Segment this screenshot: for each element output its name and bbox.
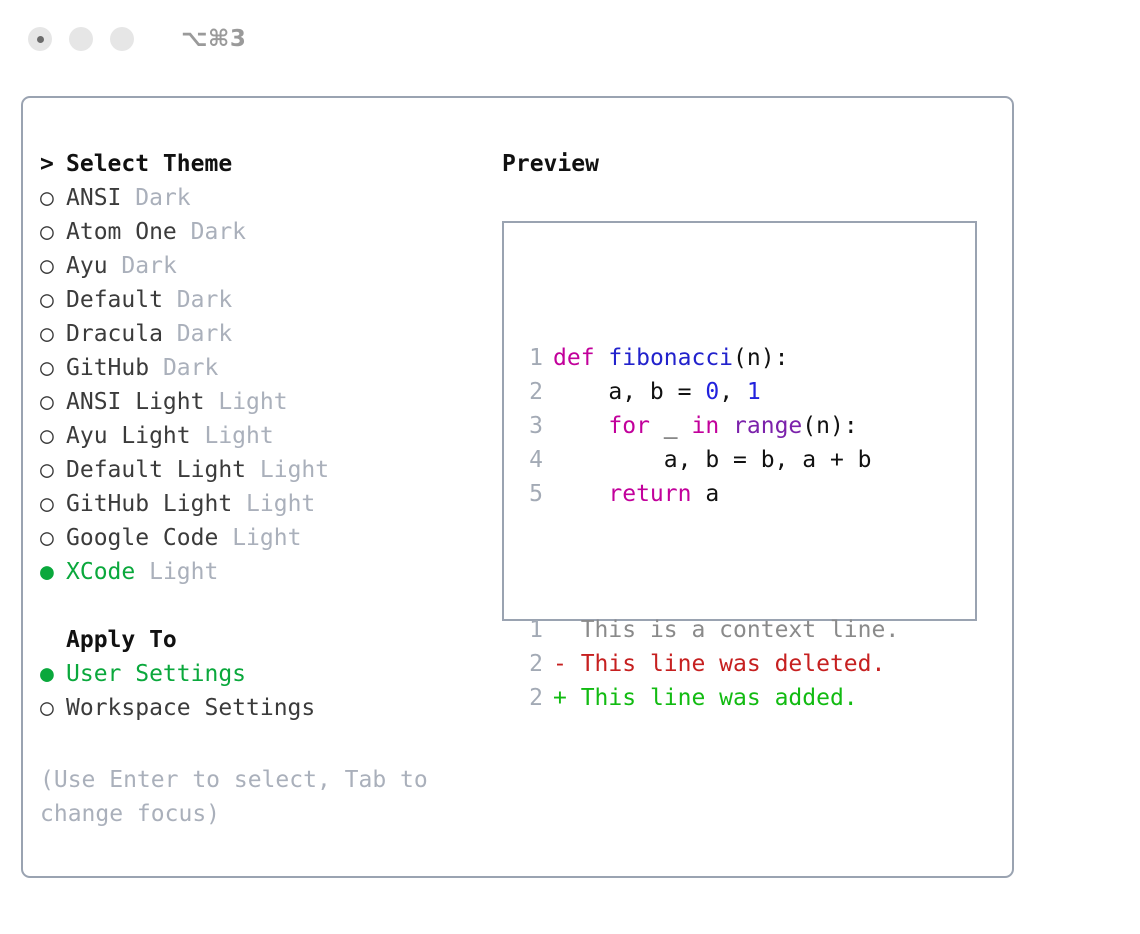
theme-name: Ayu Light — [66, 419, 191, 453]
minimize-button[interactable] — [69, 27, 93, 51]
theme-gap — [191, 419, 205, 453]
code-token-kw: in — [691, 413, 719, 439]
app-window: ⌥⌘3 > Select Theme ○ANSI Dark○Atom One D… — [0, 0, 1140, 934]
theme-option-ansi-light[interactable]: ○ANSI Light Light — [40, 385, 500, 419]
theme-option-default-light[interactable]: ○Default Light Light — [40, 453, 500, 487]
diff-line-del: 2- This line was deleted. — [521, 647, 899, 681]
apply-to-marker-spacer — [40, 623, 66, 657]
close-button-dot — [37, 36, 44, 43]
radio-unselected-icon: ○ — [40, 385, 66, 419]
theme-gap — [163, 283, 177, 317]
diff-text: This line was added. — [581, 685, 858, 711]
radio-unselected-icon: ○ — [40, 181, 66, 215]
prompt-caret-icon: > — [40, 147, 66, 181]
diff-sign: - — [553, 651, 581, 677]
radio-selected-icon: ● — [40, 657, 66, 691]
theme-kind-badge: Dark — [135, 181, 190, 215]
code-token-txt — [553, 481, 608, 507]
code-token-txt: (n): — [802, 413, 857, 439]
theme-gap — [177, 215, 191, 249]
code-token-txt: _ — [650, 413, 692, 439]
keyboard-hint: (Use Enter to select, Tab to change focu… — [40, 763, 460, 831]
code-token-fn: fibonacci — [608, 345, 733, 371]
code-sample: 1def fibonacci(n):2 a, b = 0, 13 for _ i… — [521, 273, 899, 783]
theme-selector-pane: > Select Theme ○ANSI Dark○Atom One Dark○… — [40, 147, 500, 725]
code-line: 4 a, b = b, a + b — [521, 443, 899, 477]
code-token-kw: def — [553, 345, 595, 371]
radio-unselected-icon: ○ — [40, 283, 66, 317]
theme-option-github[interactable]: ○GitHub Dark — [40, 351, 500, 385]
theme-kind-badge: Dark — [177, 283, 232, 317]
diff-line-add: 2+ This line was added. — [521, 681, 899, 715]
radio-unselected-icon: ○ — [40, 317, 66, 351]
theme-option-google-code[interactable]: ○Google Code Light — [40, 521, 500, 555]
theme-option-ansi[interactable]: ○ANSI Dark — [40, 181, 500, 215]
code-line: 5 return a — [521, 477, 899, 511]
diff-line-number: 1 — [521, 613, 543, 647]
theme-kind-badge: Dark — [121, 249, 176, 283]
code-token-num: 1 — [747, 379, 761, 405]
code-token-txt: a, b = b, a + b — [553, 447, 872, 473]
diff-sign — [553, 617, 581, 643]
preview-pane: Preview 1def fibonacci(n):2 a, b = 0, 13… — [502, 147, 992, 621]
theme-list: ○ANSI Dark○Atom One Dark○Ayu Dark○Defaul… — [40, 181, 500, 589]
theme-name: Google Code — [66, 521, 218, 555]
radio-unselected-icon: ○ — [40, 521, 66, 555]
preview-box: 1def fibonacci(n):2 a, b = 0, 13 for _ i… — [502, 221, 977, 621]
theme-kind-badge: Light — [260, 453, 329, 487]
diff-text: This line was deleted. — [581, 651, 886, 677]
select-theme-heading: > Select Theme — [40, 147, 500, 181]
radio-unselected-icon: ○ — [40, 487, 66, 521]
code-token-txt — [553, 413, 608, 439]
code-token-txt — [719, 413, 733, 439]
code-token-txt: (n): — [733, 345, 788, 371]
code-lines: 1def fibonacci(n):2 a, b = 0, 13 for _ i… — [521, 341, 899, 511]
theme-name: Atom One — [66, 215, 177, 249]
window-controls — [28, 27, 134, 51]
line-number: 1 — [521, 341, 543, 375]
close-button[interactable] — [28, 27, 52, 51]
theme-option-default[interactable]: ○Default Dark — [40, 283, 500, 317]
apply-to-heading: Apply To — [40, 623, 500, 657]
radio-selected-icon: ● — [40, 555, 66, 589]
theme-gap — [232, 487, 246, 521]
theme-name: Default — [66, 283, 163, 317]
diff-sign: + — [553, 685, 581, 711]
theme-gap — [204, 385, 218, 419]
apply-to-option-workspace-settings[interactable]: ○Workspace Settings — [40, 691, 500, 725]
maximize-button[interactable] — [110, 27, 134, 51]
apply-to-label: Apply To — [66, 623, 177, 657]
keyboard-hint-line-1: (Use Enter to select, Tab to — [40, 763, 460, 797]
theme-name: Default Light — [66, 453, 246, 487]
theme-kind-badge: Light — [204, 419, 273, 453]
radio-unselected-icon: ○ — [40, 419, 66, 453]
apply-to-option-user-settings[interactable]: ●User Settings — [40, 657, 500, 691]
theme-option-ayu-light[interactable]: ○Ayu Light Light — [40, 419, 500, 453]
theme-name: GitHub — [66, 351, 149, 385]
theme-kind-badge: Light — [218, 385, 287, 419]
code-token-kw: return — [608, 481, 691, 507]
diff-lines: 1 This is a context line.2- This line wa… — [521, 613, 899, 715]
diff-line-number: 2 — [521, 681, 543, 715]
apply-to-option-label: User Settings — [66, 657, 246, 691]
window-titlebar: ⌥⌘3 — [0, 0, 1140, 78]
theme-gap — [135, 555, 149, 589]
line-number: 5 — [521, 477, 543, 511]
theme-name: Dracula — [66, 317, 163, 351]
theme-kind-badge: Dark — [177, 317, 232, 351]
diff-text: This is a context line. — [581, 617, 900, 643]
theme-kind-badge: Light — [232, 521, 301, 555]
theme-gap — [218, 521, 232, 555]
line-number: 2 — [521, 375, 543, 409]
line-number: 3 — [521, 409, 543, 443]
keyboard-hint-line-2: change focus) — [40, 797, 460, 831]
diff-line-ctx: 1 This is a context line. — [521, 613, 899, 647]
code-line: 3 for _ in range(n): — [521, 409, 899, 443]
line-number: 4 — [521, 443, 543, 477]
theme-kind-badge: Dark — [191, 215, 246, 249]
diff-line-number: 2 — [521, 647, 543, 681]
theme-option-ayu[interactable]: ○Ayu Dark — [40, 249, 500, 283]
theme-name: GitHub Light — [66, 487, 232, 521]
theme-name: ANSI Light — [66, 385, 204, 419]
code-token-txt — [595, 345, 609, 371]
theme-option-atom-one[interactable]: ○Atom One Dark — [40, 215, 500, 249]
code-token-txt: a — [691, 481, 719, 507]
radio-unselected-icon: ○ — [40, 249, 66, 283]
theme-kind-badge: Light — [149, 555, 218, 589]
theme-name: ANSI — [66, 181, 121, 215]
apply-to-option-list: ●User Settings○Workspace Settings — [40, 657, 500, 725]
code-token-txt: a, b = — [553, 379, 705, 405]
theme-name: Ayu — [66, 249, 108, 283]
radio-unselected-icon: ○ — [40, 351, 66, 385]
theme-name: XCode — [66, 555, 135, 589]
keyboard-shortcut-label: ⌥⌘3 — [181, 26, 246, 52]
theme-gap — [108, 249, 122, 283]
preview-title: Preview — [502, 147, 992, 181]
code-line: 1def fibonacci(n): — [521, 341, 899, 375]
theme-gap — [163, 317, 177, 351]
theme-gap — [121, 181, 135, 215]
select-theme-title: Select Theme — [66, 147, 232, 181]
code-token-call: range — [733, 413, 802, 439]
code-line: 2 a, b = 0, 1 — [521, 375, 899, 409]
radio-unselected-icon: ○ — [40, 691, 66, 725]
radio-unselected-icon: ○ — [40, 215, 66, 249]
theme-gap — [149, 351, 163, 385]
apply-to-option-label: Workspace Settings — [66, 691, 315, 725]
code-token-kw: for — [608, 413, 650, 439]
code-token-txt: , — [719, 379, 747, 405]
theme-option-dracula[interactable]: ○Dracula Dark — [40, 317, 500, 351]
radio-unselected-icon: ○ — [40, 453, 66, 487]
theme-option-xcode[interactable]: ●XCode Light — [40, 555, 500, 589]
theme-option-github-light[interactable]: ○GitHub Light Light — [40, 487, 500, 521]
terminal-frame: > Select Theme ○ANSI Dark○Atom One Dark○… — [21, 96, 1014, 878]
code-token-num: 0 — [705, 379, 719, 405]
theme-gap — [246, 453, 260, 487]
tui-root: > Select Theme ○ANSI Dark○Atom One Dark○… — [23, 98, 1012, 876]
spacer — [40, 589, 500, 623]
theme-kind-badge: Dark — [163, 351, 218, 385]
theme-kind-badge: Light — [246, 487, 315, 521]
